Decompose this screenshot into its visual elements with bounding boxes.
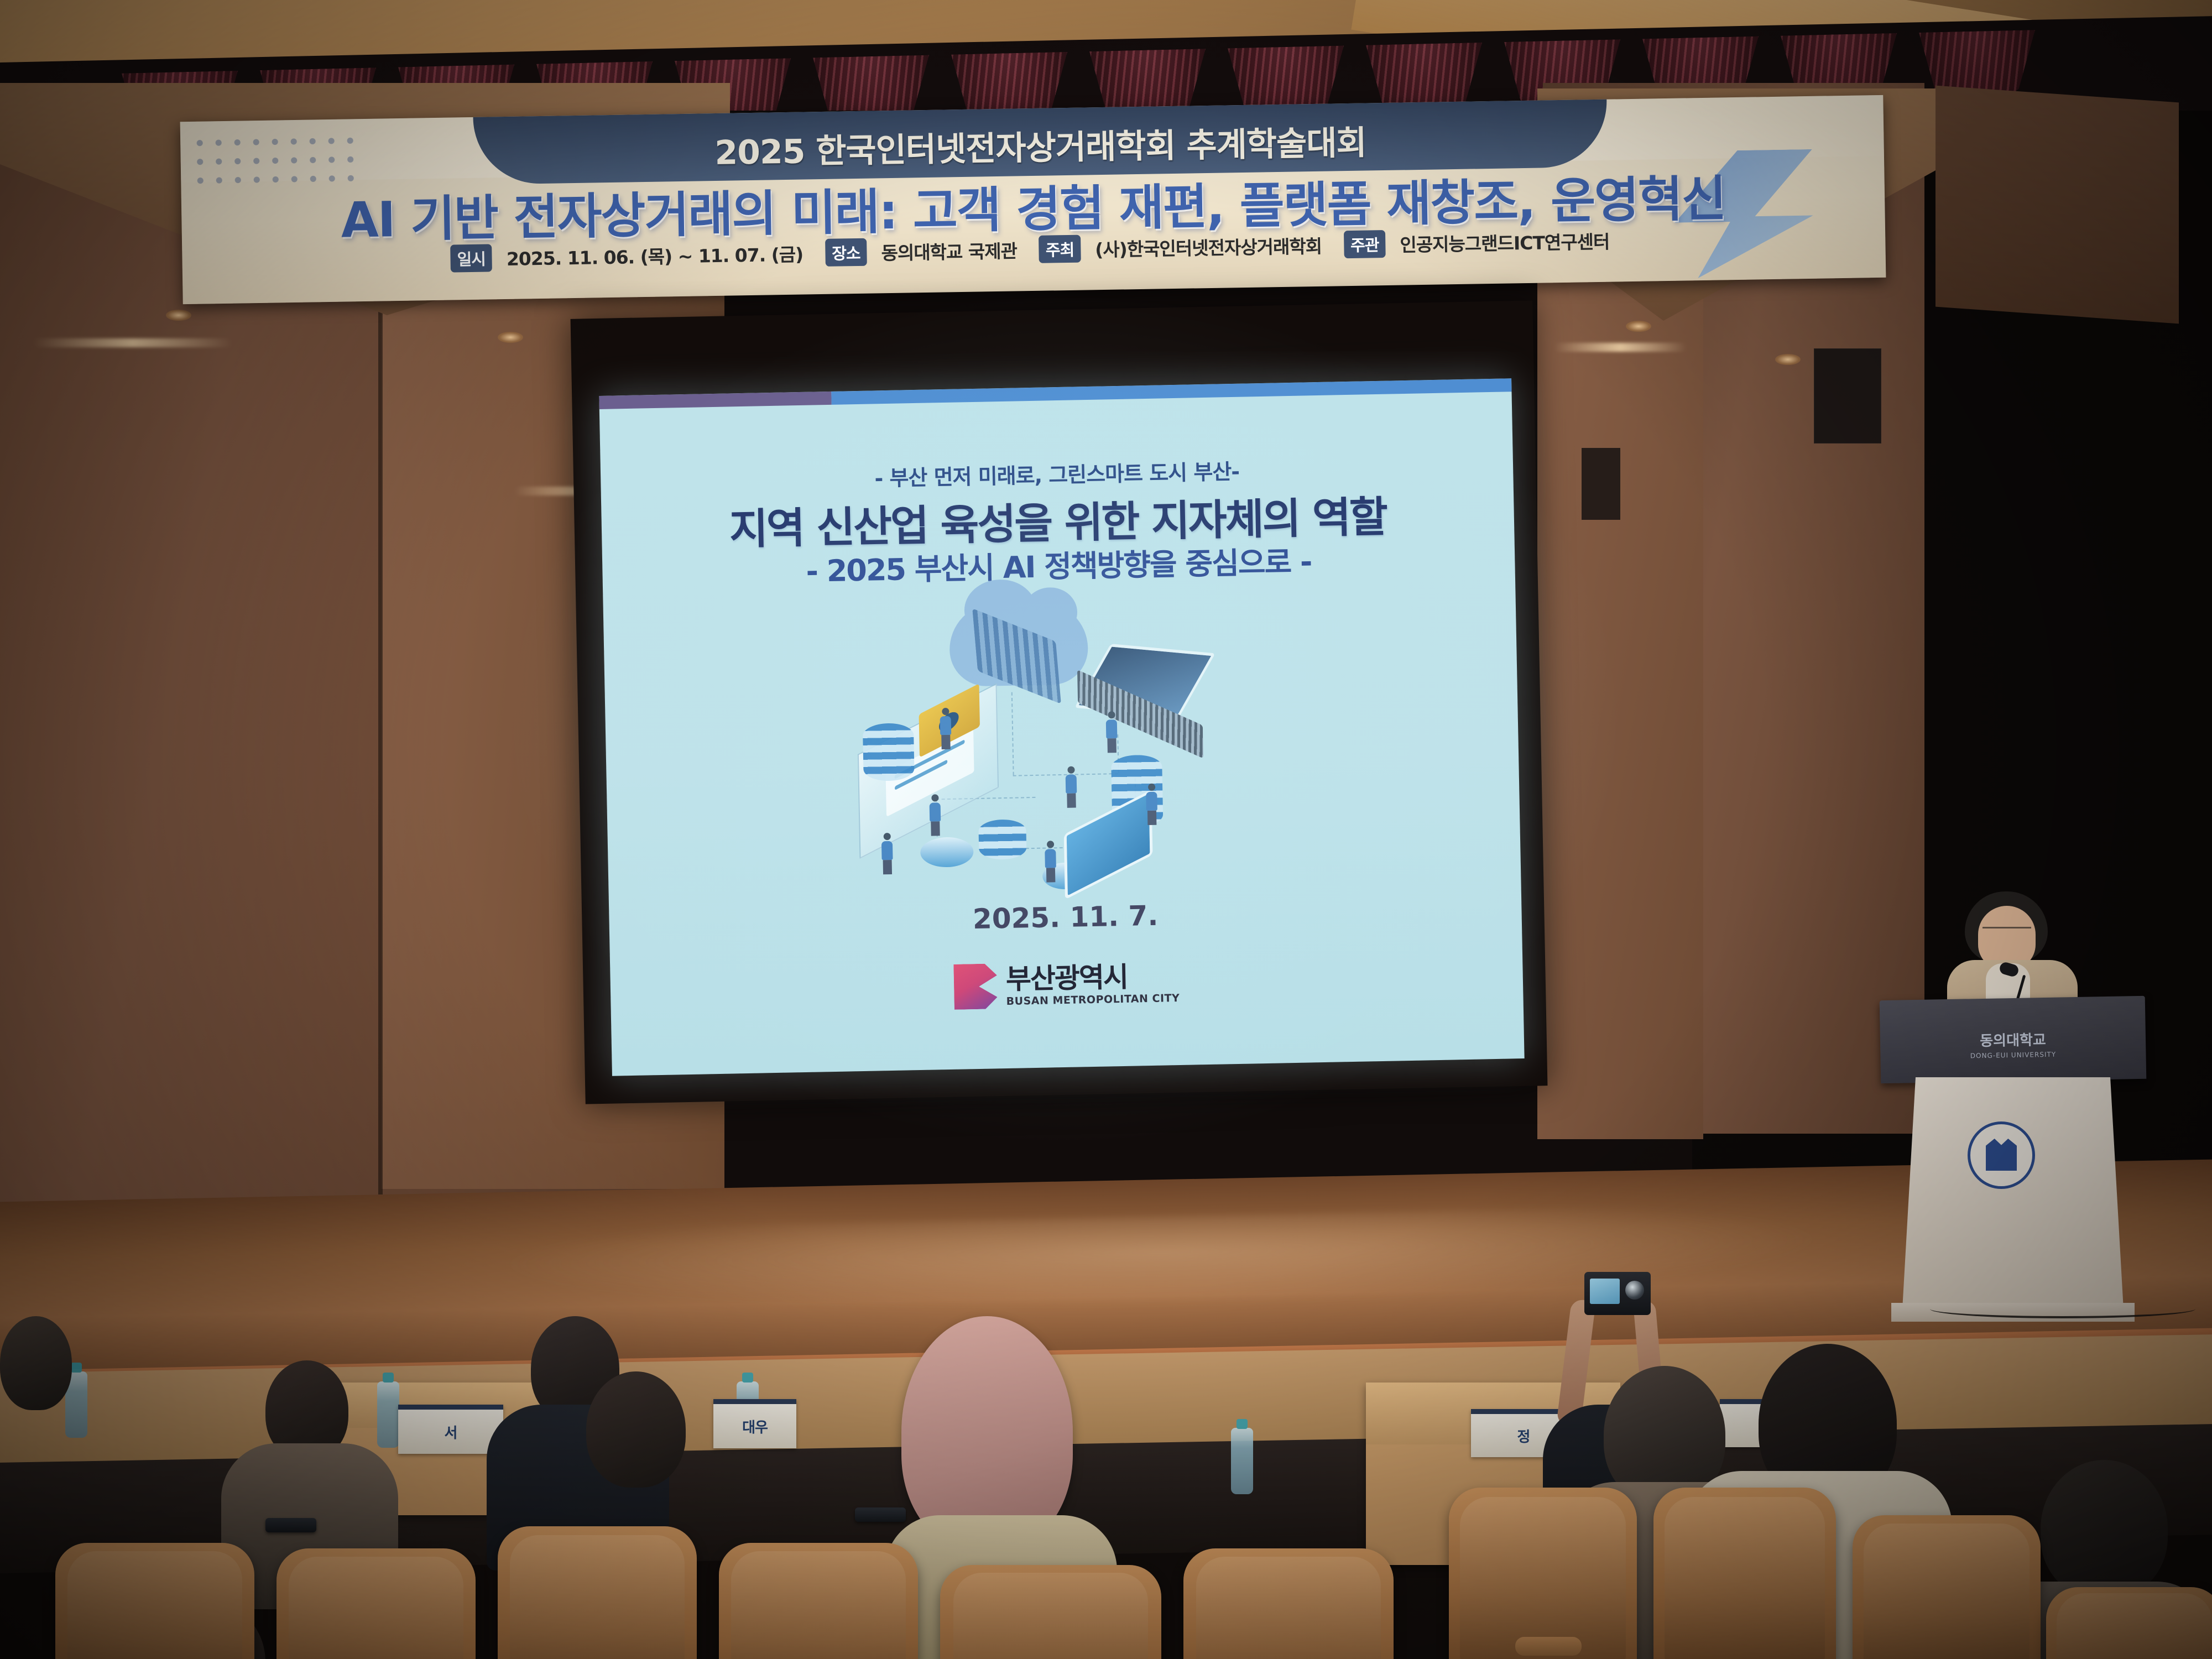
busan-logo-mark-icon [953, 963, 998, 1009]
person-figure-icon [1045, 841, 1056, 882]
smartphone-device[interactable] [855, 1507, 906, 1522]
audience-head [0, 1316, 72, 1410]
banner-header-text: 2025 한국인터넷전자상거래학회 추계학술대회 [714, 116, 1367, 174]
auditorium-seat[interactable] [940, 1565, 1161, 1659]
name-placard: 대우 [713, 1399, 796, 1448]
banner-meta-tag-organizer: 주관 [1344, 230, 1386, 258]
ceiling-downlight [1626, 321, 1651, 332]
auditorium-seat[interactable] [1653, 1488, 1836, 1659]
cove-light-strip [33, 338, 232, 347]
presentation-slide: - 부산 먼저 미래로, 그린스마트 도시 부산- 지역 신산업 육성을 위한 … [599, 378, 1524, 1076]
laptop-icon [1077, 648, 1206, 733]
camera-lens-icon [1625, 1281, 1644, 1300]
banner-meta-value-venue: 동의대학교 국제관 [881, 236, 1017, 265]
water-bottle [1231, 1428, 1253, 1494]
banner-meta-value-date: 2025. 11. 06. (목) ~ 11. 07. (금) [506, 240, 803, 271]
floor-cable [1930, 1300, 2195, 1318]
banner-meta-tag-host: 주최 [1039, 235, 1081, 263]
stage-speaker-box [1582, 448, 1620, 520]
auditorium-seat[interactable] [1853, 1515, 2041, 1659]
auditorium-seat[interactable] [1183, 1548, 1394, 1659]
person-figure-icon [1146, 784, 1157, 825]
person-figure-icon [1065, 766, 1077, 808]
seat-armrest [1515, 1637, 1582, 1656]
isometric-cloud-illustration-icon [844, 593, 1281, 895]
auditorium-seat[interactable] [1449, 1488, 1637, 1659]
busan-logo-name-en: BUSAN METROPOLITAN CITY [1006, 993, 1180, 1006]
cove-light-strip [1554, 343, 1687, 352]
audience-head-hijab [901, 1316, 1073, 1548]
banner-meta-tag-date: 일시 [450, 244, 492, 272]
tablet-icon [1064, 790, 1153, 900]
audience-head [2041, 1460, 2168, 1598]
disc-icon [920, 837, 974, 868]
person-figure-icon [881, 833, 893, 874]
auditorium-seat[interactable] [719, 1543, 918, 1659]
busan-logo-name-ko: 부산광역시 [1005, 962, 1180, 993]
podium-institution-ko: 동의대학교 [1880, 1027, 2146, 1052]
speaker-glasses-icon [1983, 927, 2031, 938]
conference-banner: 2025 한국인터넷전자상거래학회 추계학술대회 AI 기반 전자상거래의 미래… [180, 95, 1886, 304]
hanging-acoustic-panel [1936, 86, 2179, 324]
podium-label: 동의대학교 DONG-EUI UNIVERSITY [1880, 1027, 2146, 1061]
podium-body [1902, 1077, 2124, 1310]
auditorium-seat[interactable] [55, 1543, 254, 1659]
left-wall-corner-edge [378, 182, 383, 1194]
banner-meta-value-organizer: 인공지능그랜드ICT연구센터 [1400, 227, 1610, 257]
person-figure-icon [940, 708, 951, 749]
smartphone-device[interactable] [265, 1518, 316, 1532]
ceiling-downlight [498, 332, 523, 343]
auditorium-seat[interactable] [276, 1548, 476, 1659]
banner-meta-value-host: (사)한국인터넷전자상거래학회 [1095, 232, 1322, 262]
busan-city-logo: 부산광역시 BUSAN METROPOLITAN CITY [610, 953, 1523, 1016]
database-icon [978, 819, 1026, 860]
auditorium-seat[interactable] [2046, 1587, 2212, 1659]
database-icon [863, 723, 915, 781]
slide-date: 2025. 11. 7. [609, 893, 1522, 942]
water-bottle [377, 1381, 399, 1448]
audience-head [586, 1371, 686, 1488]
auditorium-seat[interactable] [498, 1526, 697, 1659]
ceiling-downlight [1775, 354, 1801, 365]
auditorium-scene: 2025 한국인터넷전자상거래학회 추계학술대회 AI 기반 전자상거래의 미래… [0, 0, 2212, 1659]
podium-top: 동의대학교 DONG-EUI UNIVERSITY [1880, 996, 2147, 1083]
name-placard: 서 [398, 1405, 503, 1454]
university-seal-icon [1968, 1121, 2035, 1189]
camera-device [1584, 1272, 1651, 1315]
person-figure-icon [929, 794, 941, 836]
person-figure-icon [1105, 711, 1117, 753]
stage-speaker-box [1814, 348, 1881, 444]
banner-meta-tag-venue: 장소 [825, 238, 867, 267]
camera-screen [1590, 1279, 1620, 1304]
ceiling-downlight [166, 310, 191, 321]
